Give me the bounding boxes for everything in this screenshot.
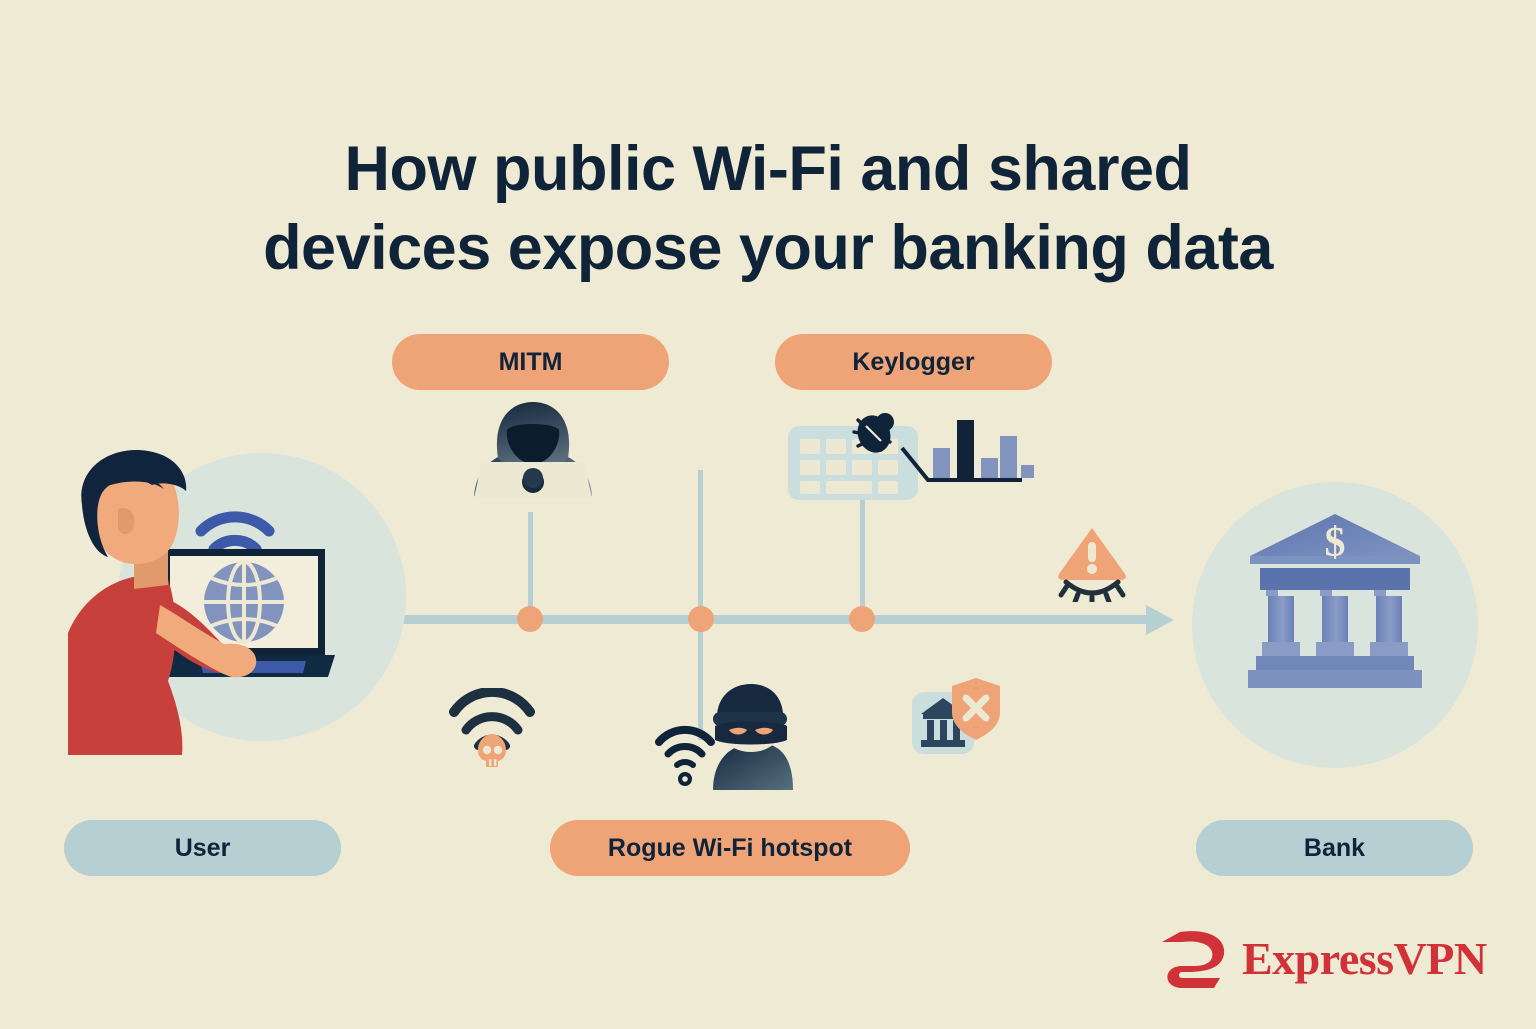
connector-mitm <box>528 512 533 617</box>
bank-illustration: $ <box>1192 482 1478 768</box>
expressvpn-wordmark: ExpressVPN <box>1242 936 1487 982</box>
user-illustration <box>60 445 360 755</box>
keyboard-icon <box>788 426 918 500</box>
expressvpn-mark-icon <box>1160 928 1228 990</box>
rogue-hotspot-illustration <box>655 682 801 792</box>
bank-building-icon: $ <box>1192 482 1478 768</box>
flow-axis-arrowhead-icon <box>1146 605 1174 635</box>
bar-chart-icon <box>933 420 1034 478</box>
expressvpn-logo: ExpressVPN <box>1160 928 1487 990</box>
label-pill-user: User <box>64 820 341 876</box>
bank-blocked-illustration <box>910 672 1002 764</box>
page-title-line-1: How public Wi-Fi and shared <box>120 130 1416 209</box>
label-pill-mitm-text: MITM <box>499 348 563 377</box>
flow-axis-line <box>362 615 1152 624</box>
connector-keylogger <box>860 498 865 618</box>
flow-marker-mitm <box>517 606 543 632</box>
flow-marker-keylogger <box>849 606 875 632</box>
label-pill-bank-text: Bank <box>1304 834 1365 863</box>
warning-triangle-icon <box>1058 528 1126 580</box>
connector-rogue-upper <box>698 470 703 620</box>
dollar-sign-icon: $ <box>1325 520 1346 566</box>
label-pill-user-text: User <box>175 834 231 863</box>
label-pill-rogue-hotspot-text: Rogue Wi-Fi hotspot <box>608 834 852 863</box>
label-pill-keylogger: Keylogger <box>775 334 1052 390</box>
label-pill-rogue-hotspot: Rogue Wi-Fi hotspot <box>550 820 910 876</box>
mitm-illustration <box>452 400 612 525</box>
closed-eye-icon <box>1061 582 1123 602</box>
infographic-canvas: How public Wi-Fi and shared devices expo… <box>0 0 1536 1029</box>
label-pill-keylogger-text: Keylogger <box>852 348 974 377</box>
user-figure-icon <box>60 445 360 755</box>
keylogger-illustration <box>786 408 1036 508</box>
wifi-icon <box>659 730 711 765</box>
keylogger-icon-group <box>786 408 1036 508</box>
page-title-line-2: devices expose your banking data <box>120 209 1416 288</box>
masked-thief-icon <box>713 684 793 790</box>
label-pill-bank: Bank <box>1196 820 1473 876</box>
flow-marker-rogue <box>688 606 714 632</box>
hooded-hacker-icon <box>452 400 612 525</box>
label-pill-mitm: MITM <box>392 334 669 390</box>
warning-illustration <box>1052 524 1132 602</box>
wifi-skull-icon <box>448 688 536 770</box>
globe-icon <box>204 562 284 642</box>
wifi-skull-illustration <box>448 688 536 770</box>
page-title: How public Wi-Fi and shared devices expo… <box>0 130 1536 288</box>
skull-icon <box>478 734 506 767</box>
